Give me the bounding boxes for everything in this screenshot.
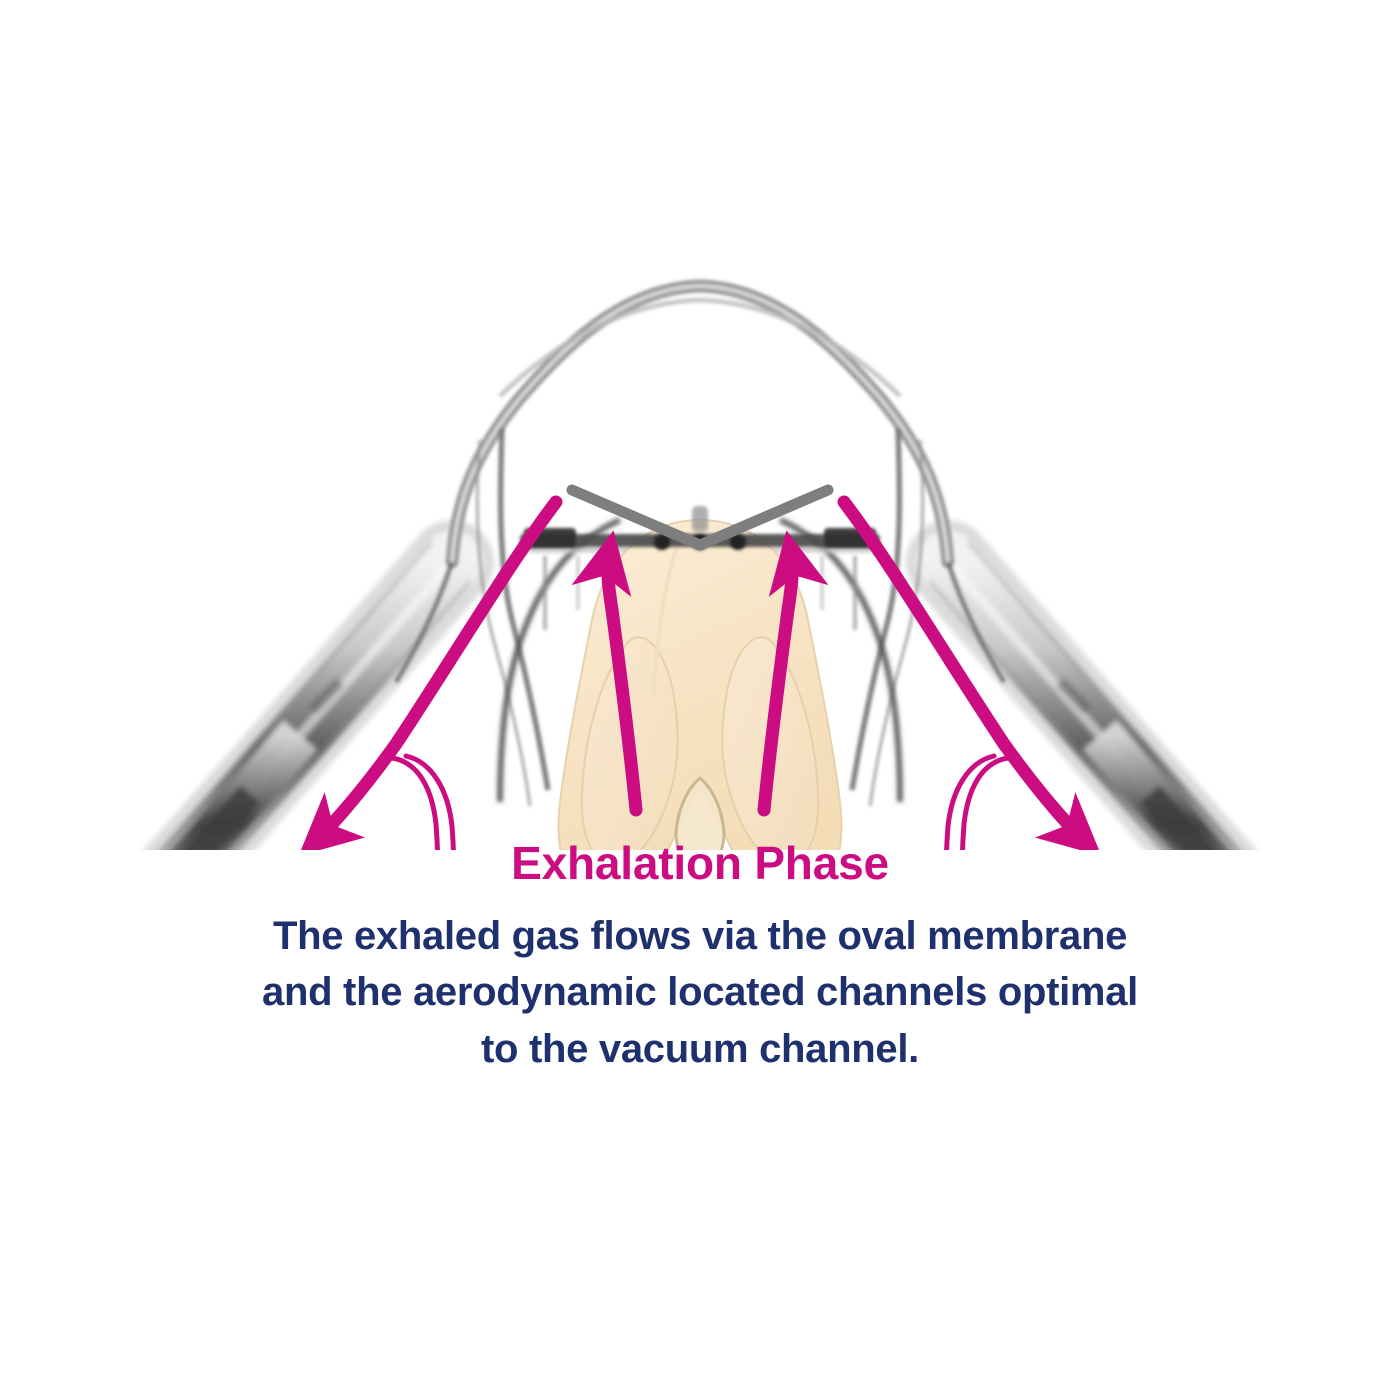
page-root: Exhalation Phase The exhaled gas flows v… <box>0 0 1400 1400</box>
caption-line-2: and the aerodynamic located channels opt… <box>0 964 1400 1021</box>
caption-line-3: to the vacuum channel. <box>0 1021 1400 1078</box>
left-vacuum-tube <box>96 542 470 850</box>
caption-body: The exhaled gas flows via the oval membr… <box>0 908 1400 1078</box>
diagram-canvas <box>0 190 1400 850</box>
caption-line-1: The exhaled gas flows via the oval membr… <box>0 908 1400 965</box>
right-vacuum-tube <box>930 542 1304 850</box>
nasal-mask-exhalation-diagram <box>0 190 1400 850</box>
caption-title: Exhalation Phase <box>0 838 1400 890</box>
caption-block: Exhalation Phase The exhaled gas flows v… <box>0 838 1400 1078</box>
